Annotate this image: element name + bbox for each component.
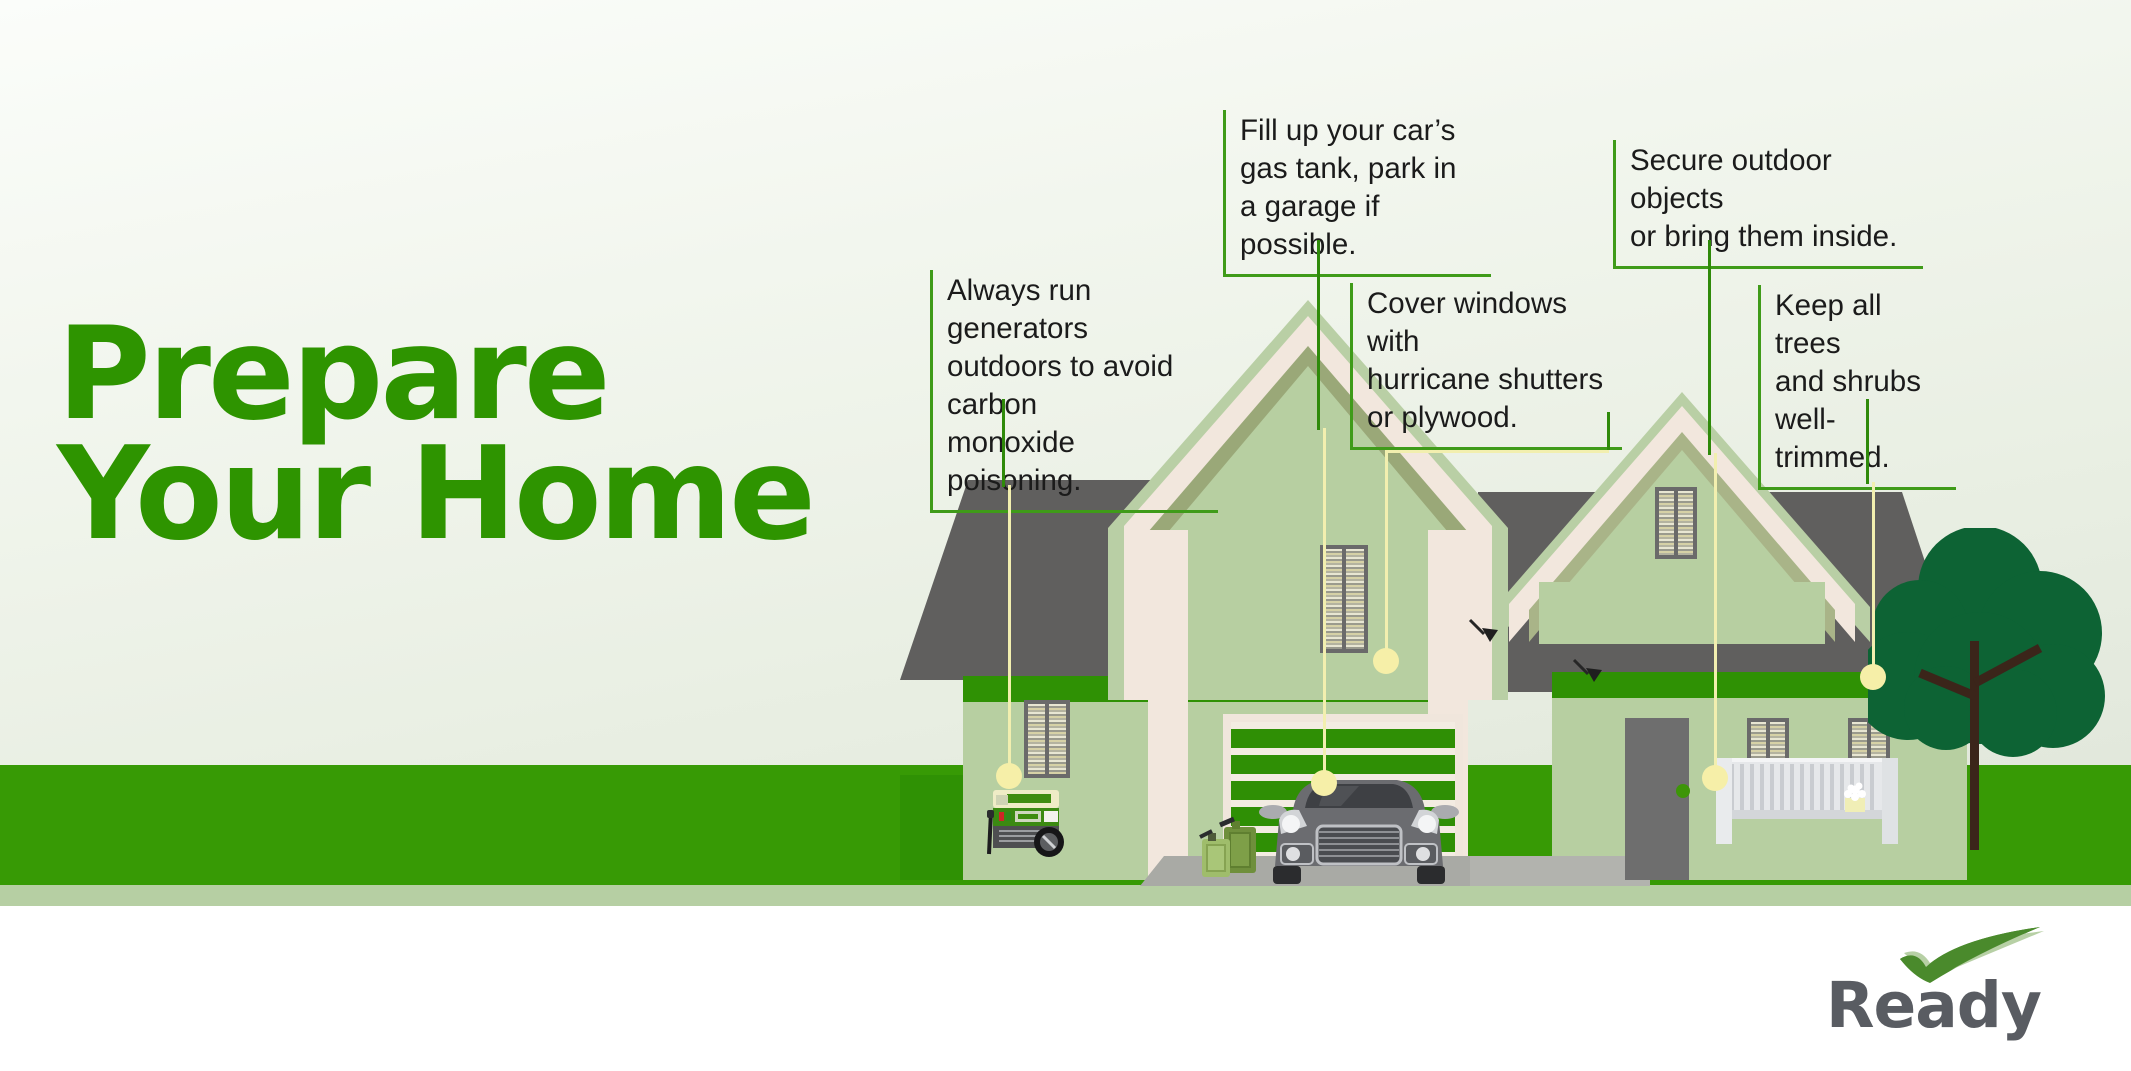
window-shutter-attic-center (1320, 545, 1368, 653)
leader-line-windows-vertical (1385, 450, 1388, 658)
gable-pilaster-left (1148, 530, 1188, 880)
callout-stem-outdoor-objects (1708, 240, 1711, 455)
leader-line-car (1323, 428, 1326, 776)
leader-dot-generator (996, 763, 1022, 789)
logo-wordmark: Ready (1826, 969, 2041, 1042)
sage-band (0, 885, 2131, 906)
wall-lamp-icon-right (1572, 658, 1606, 692)
leader-line-windows-horizontal (1385, 450, 1609, 453)
generator-icon (985, 782, 1075, 862)
leader-line-generator (1008, 485, 1011, 770)
callout-stem-windows (1607, 412, 1610, 450)
leader-dot-windows (1373, 648, 1399, 674)
left-grass-patch (900, 775, 963, 880)
callout-windows: Cover windows with hurricane shutters or… (1350, 283, 1622, 450)
callout-stem-generators (1002, 399, 1005, 487)
gas-can-icon (1198, 815, 1268, 877)
front-door[interactable] (1625, 718, 1689, 880)
leader-line-tree (1872, 482, 1875, 672)
shutter-leaf (1346, 549, 1364, 649)
callout-outdoor-objects: Secure outdoor objects or bring them ins… (1613, 140, 1923, 269)
leader-dot-car (1311, 770, 1337, 796)
infographic-canvas: Prepare Your Home (0, 0, 2131, 1071)
leader-dot-bench (1702, 765, 1728, 791)
ready-logo[interactable]: Ready (1826, 925, 2058, 1043)
callout-stem-gas-tank (1317, 240, 1320, 430)
footer-white-band (0, 906, 2131, 1071)
door-knob[interactable] (1676, 784, 1690, 798)
bench-icon (1710, 752, 1902, 852)
front-walk (1470, 856, 1650, 886)
callout-gas-tank: Fill up your car’s gas tank, park in a g… (1223, 110, 1491, 277)
wall-lamp-icon-left (1468, 618, 1502, 652)
callout-stem-trees-shrubs (1866, 399, 1869, 484)
callout-trees-shrubs: Keep all trees and shrubs well-trimmed. (1758, 285, 1956, 490)
shutter-leaf (1324, 549, 1342, 649)
callout-generators: Always run generators outdoors to avoid … (930, 270, 1218, 513)
shutter-leaf (1659, 491, 1674, 555)
window-shutter-left (1024, 700, 1070, 778)
leader-dot-tree (1860, 664, 1886, 690)
shutter-leaf (1028, 704, 1045, 774)
tree-icon (1868, 528, 2118, 850)
window-shutter-attic-right (1655, 487, 1697, 559)
car-icon (1259, 768, 1459, 890)
leader-line-bench (1714, 453, 1717, 773)
page-title: Prepare Your Home (57, 315, 813, 556)
shutter-leaf (1678, 491, 1693, 555)
shutter-leaf (1049, 704, 1066, 774)
